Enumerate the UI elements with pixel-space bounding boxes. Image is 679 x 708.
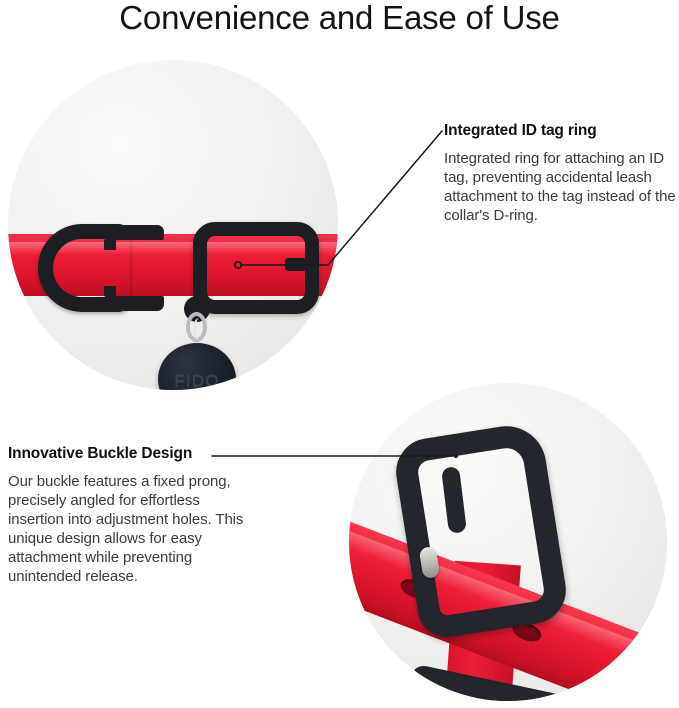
id-tag-ring-prong <box>285 258 309 271</box>
d-ring-bottom-nub <box>104 286 116 296</box>
d-ring-top-nub <box>104 240 116 250</box>
callout-integrated-id-tag-ring: Integrated ID tag ring Integrated ring f… <box>444 121 679 225</box>
callout-innovative-buckle-design: Innovative Buckle Design Our buckle feat… <box>8 444 258 586</box>
dog-id-tag-label: FIDO <box>158 371 236 390</box>
photo-buckle <box>349 383 667 701</box>
callout-title: Integrated ID tag ring <box>444 121 679 141</box>
buckle-frame <box>391 420 570 641</box>
photo-id-tag-ring: FIDO <box>8 60 338 390</box>
callout-title: Innovative Buckle Design <box>8 444 258 464</box>
callout-body: Integrated ring for attaching an ID tag,… <box>444 149 679 225</box>
d-ring-bottom-arm <box>104 296 164 311</box>
page-title: Convenience and Ease of Use <box>0 0 679 40</box>
infographic-page: Convenience and Ease of Use FIDO <box>0 0 679 708</box>
adjustment-hole <box>622 662 656 689</box>
split-ring <box>186 312 207 342</box>
callout-body: Our buckle features a fixed prong, preci… <box>8 472 258 586</box>
d-ring-top-arm <box>104 225 164 240</box>
